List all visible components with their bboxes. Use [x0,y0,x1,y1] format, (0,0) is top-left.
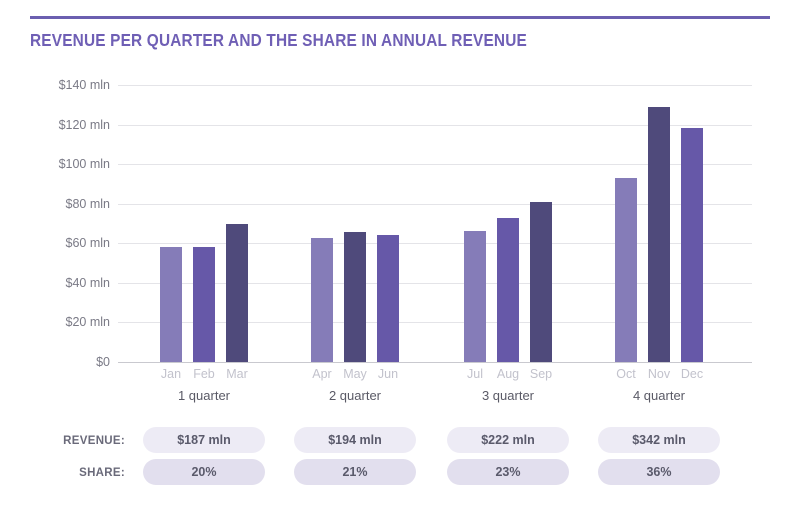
share-pill-q4: 36% [598,459,720,485]
bar-mar[interactable] [226,224,248,363]
quarter-label-2: 2 quarter [285,389,425,402]
revenue-pill-q2: $194 mln [294,427,416,453]
share-pill-q2: 21% [294,459,416,485]
month-label-dec: Dec [672,368,712,381]
plot-area: $140 mln$120 mln$100 mln$80 mln$60 mln$4… [0,0,799,400]
chart-page: REVENUE PER QUARTER AND THE SHARE IN ANN… [0,0,799,516]
share-row-label: SHARE: [0,468,125,480]
bar-apr[interactable] [311,238,333,362]
bar-jul[interactable] [464,231,486,362]
bar-sep[interactable] [530,202,552,362]
bar-aug[interactable] [497,218,519,362]
bar-jun[interactable] [377,235,399,362]
bar-jan[interactable] [160,247,182,362]
bar-may[interactable] [344,232,366,362]
quarter-label-3: 3 quarter [438,389,578,402]
quarter-label-4: 4 quarter [589,389,729,402]
month-label-mar: Mar [217,368,257,381]
bar-dec[interactable] [681,128,703,362]
bar-feb[interactable] [193,247,215,362]
share-pill-q1: 20% [143,459,265,485]
month-label-jun: Jun [368,368,408,381]
revenue-row-label: REVENUE: [0,436,125,448]
bar-oct[interactable] [615,178,637,362]
month-label-sep: Sep [521,368,561,381]
revenue-pill-q4: $342 mln [598,427,720,453]
gridline [118,362,752,363]
revenue-pill-q1: $187 mln [143,427,265,453]
share-pill-q3: 23% [447,459,569,485]
bar-nov[interactable] [648,107,670,362]
bar-series [0,85,799,362]
quarter-label-1: 1 quarter [134,389,274,402]
revenue-pill-q3: $222 mln [447,427,569,453]
